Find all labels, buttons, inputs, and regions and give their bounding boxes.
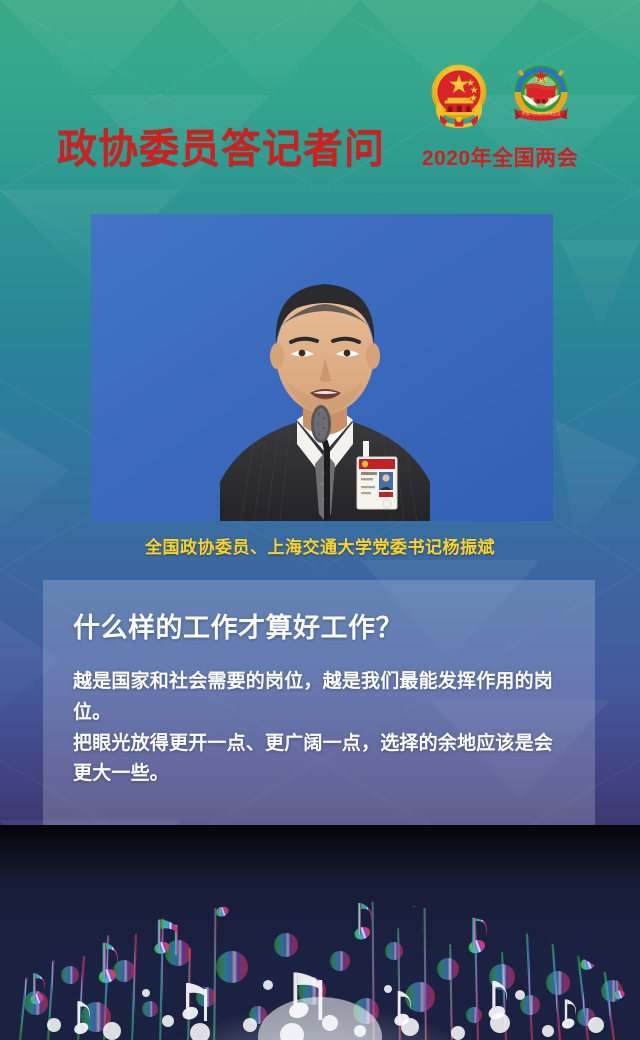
- speaker-photo: [91, 214, 553, 521]
- cppcc-emblem-icon: 1949: [505, 56, 577, 138]
- emblem-group: 1949: [415, 56, 585, 146]
- page-title: 政协委员答记者问: [57, 116, 385, 174]
- quote-line: 把眼光放得更开一点、更广阔一点，选择的余地应该是会更大一些。: [73, 729, 565, 791]
- svg-text:1949: 1949: [535, 78, 546, 84]
- event-subtitle: 2020年全国两会: [415, 142, 585, 172]
- quote-panel: 什么样的工作才算好工作？ 越是国家和社会需要的岗位，越是我们最能发挥作用的岗位。…: [43, 580, 595, 838]
- music-notes-decoration: [0, 825, 640, 1040]
- speaker-caption: 全国政协委员、上海交通大学党委书记杨振斌: [0, 533, 640, 558]
- poster-header: 政协委员答记者问: [0, 0, 640, 200]
- quote-body: 越是国家和社会需要的岗位，越是我们最能发挥作用的岗位。 把眼光放得更开一点、更广…: [73, 667, 565, 790]
- poster-root: 政协委员答记者问: [0, 0, 640, 1040]
- quote-heading: 什么样的工作才算好工作？: [73, 606, 565, 645]
- svg-text:中国人民政治协商会议: 中国人民政治协商会议: [522, 111, 561, 116]
- national-emblem-of-china-icon: [423, 56, 495, 138]
- quote-line: 越是国家和社会需要的岗位，越是我们最能发挥作用的岗位。: [73, 667, 565, 729]
